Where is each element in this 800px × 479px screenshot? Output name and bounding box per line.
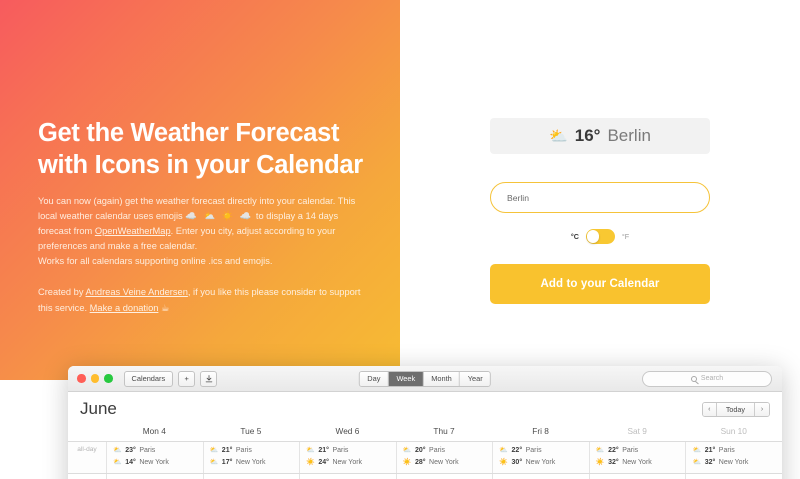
event-temperature: 24°: [318, 457, 329, 469]
calendar-titlebar: Calendars + Day Week Month Year Search: [68, 366, 782, 392]
previous-week-button[interactable]: ‹: [703, 403, 717, 416]
unit-toggle-row: °C °F: [490, 229, 710, 244]
window-controls: [77, 374, 113, 383]
weather-emoji-run: ☁️ ⛅ ☀️ ☁️: [185, 211, 253, 221]
calendar-event[interactable]: ⛅22°Paris: [596, 445, 686, 457]
calendar-event[interactable]: ⛅21°Paris: [210, 445, 300, 457]
weather-icon: ☀️: [306, 457, 315, 469]
event-temperature: 32°: [608, 457, 619, 469]
all-day-events-row: all-day ⛅23°Paris⛅14°New York⛅21°Paris⛅1…: [68, 441, 782, 474]
celsius-label[interactable]: °C: [571, 232, 579, 241]
view-tab-month[interactable]: Month: [424, 372, 461, 386]
search-input[interactable]: Search: [642, 371, 772, 387]
day-header-1[interactable]: Tue 5: [203, 426, 300, 441]
day-events-column-2: ⛅21°Paris☀️24°New York: [299, 442, 396, 473]
calendar-window: Calendars + Day Week Month Year Search J…: [68, 366, 782, 479]
event-location: Paris: [139, 445, 155, 457]
weather-icon: ⛅: [113, 445, 122, 457]
day-header-5[interactable]: Sat 9: [589, 426, 686, 441]
page-root: Get the Weather Forecast with Icons in y…: [0, 0, 800, 479]
timed-slot-column-2[interactable]: [299, 474, 396, 479]
preview-temperature: 16°: [575, 126, 601, 146]
timed-slot-column-3[interactable]: [396, 474, 493, 479]
maximize-window-button[interactable]: [104, 374, 113, 383]
event-temperature: 32°: [705, 457, 716, 469]
weather-icon: ☀️: [596, 457, 605, 469]
month-header-bar: June ‹ Today ›: [68, 392, 782, 426]
weather-icon: ⛅: [403, 445, 412, 457]
day-header-3[interactable]: Thu 7: [396, 426, 493, 441]
view-tab-year[interactable]: Year: [460, 372, 490, 386]
coffee-icon: ☕: [161, 303, 169, 313]
event-temperature: 21°: [318, 445, 329, 457]
event-location: Paris: [526, 445, 542, 457]
current-month-label: June: [80, 399, 117, 419]
signup-column: ⛅ 16° Berlin °C °F Add to your Calendar: [490, 118, 710, 304]
timed-slot-column-4[interactable]: [492, 474, 589, 479]
hero-description: You can now (again) get the weather fore…: [38, 194, 368, 269]
unit-toggle-switch[interactable]: [586, 229, 615, 244]
event-temperature: 22°: [608, 445, 619, 457]
calendar-event[interactable]: ☀️28°New York: [403, 457, 493, 469]
event-location: Paris: [236, 445, 252, 457]
event-temperature: 22°: [512, 445, 523, 457]
calendars-button[interactable]: Calendars: [124, 371, 174, 387]
calendar-event[interactable]: ⛅20°Paris: [403, 445, 493, 457]
event-location: New York: [526, 457, 556, 469]
weather-icon: ⛅: [210, 457, 219, 469]
event-columns: ⛅23°Paris⛅14°New York⛅21°Paris⛅17°New Yo…: [106, 442, 782, 473]
weather-icon: ⛅: [499, 445, 508, 457]
close-window-button[interactable]: [77, 374, 86, 383]
weather-icon: ⛅: [113, 457, 122, 469]
toggle-knob: [587, 230, 599, 242]
day-events-column-3: ⛅20°Paris☀️28°New York: [396, 442, 493, 473]
timed-slot-column-1[interactable]: [203, 474, 300, 479]
calendar-event[interactable]: ⛅14°New York: [113, 457, 203, 469]
today-button[interactable]: Today: [717, 403, 755, 416]
weather-icon: ☀️: [499, 457, 508, 469]
sun-behind-cloud-icon: ⛅: [549, 129, 568, 144]
add-event-button[interactable]: +: [178, 371, 195, 387]
event-location: New York: [429, 457, 459, 469]
event-temperature: 30°: [512, 457, 523, 469]
event-location: Paris: [332, 445, 348, 457]
timed-slot-column-0[interactable]: [106, 474, 203, 479]
calendar-event[interactable]: ⛅21°Paris: [692, 445, 782, 457]
calendar-event[interactable]: ⛅32°New York: [692, 457, 782, 469]
weather-icon: ☀️: [403, 457, 412, 469]
import-icon[interactable]: [200, 371, 217, 387]
author-link[interactable]: Andreas Veine Andersen: [86, 287, 188, 297]
day-header-4[interactable]: Fri 8: [492, 426, 589, 441]
timed-events-grid: [68, 474, 782, 479]
next-week-button[interactable]: ›: [755, 403, 769, 416]
event-temperature: 20°: [415, 445, 426, 457]
event-location: Paris: [719, 445, 735, 457]
weather-icon: ⛅: [692, 457, 701, 469]
day-header-0[interactable]: Mon 4: [106, 426, 203, 441]
date-navigation-group: ‹ Today ›: [702, 402, 770, 417]
page-title-line1: Get the Weather Forecast: [38, 119, 339, 147]
search-placeholder: Search: [701, 375, 723, 382]
hero-panel: Get the Weather Forecast with Icons in y…: [0, 0, 400, 380]
day-headers-row: Mon 4Tue 5Wed 6Thu 7Fri 8Sat 9Sun 10: [68, 426, 782, 441]
hero-content: Get the Weather Forecast with Icons in y…: [38, 118, 368, 316]
day-events-column-5: ⛅22°Paris☀️32°New York: [589, 442, 686, 473]
day-events-column-1: ⛅21°Paris⛅17°New York: [203, 442, 300, 473]
event-temperature: 21°: [222, 445, 233, 457]
event-location: New York: [236, 457, 266, 469]
day-header-2[interactable]: Wed 6: [299, 426, 396, 441]
event-location: New York: [332, 457, 362, 469]
event-location: New York: [719, 457, 749, 469]
event-location: New York: [139, 457, 169, 469]
view-tab-week[interactable]: Week: [389, 372, 424, 386]
event-temperature: 14°: [125, 457, 136, 469]
view-segmented-control[interactable]: Day Week Month Year: [359, 371, 491, 387]
day-events-column-0: ⛅23°Paris⛅14°New York: [106, 442, 203, 473]
view-tab-day[interactable]: Day: [360, 372, 389, 386]
hero-credit: Created by Andreas Veine Andersen, if yo…: [38, 285, 368, 315]
event-temperature: 17°: [222, 457, 233, 469]
calendar-event[interactable]: ⛅21°Paris: [306, 445, 396, 457]
hero-description-part4: Works for all calendars supporting onlin…: [38, 256, 272, 266]
minimize-window-button[interactable]: [91, 374, 100, 383]
preview-city: Berlin: [607, 126, 650, 146]
day-header-6[interactable]: Sun 10: [685, 426, 782, 441]
all-day-label: all-day: [68, 442, 106, 473]
page-title: Get the Weather Forecast with Icons in y…: [38, 118, 368, 181]
timed-slot-column-6[interactable]: [685, 474, 782, 479]
calendar-event[interactable]: ☀️32°New York: [596, 457, 686, 469]
search-icon: [691, 376, 697, 382]
event-temperature: 28°: [415, 457, 426, 469]
event-location: Paris: [622, 445, 638, 457]
calendar-event[interactable]: ☀️24°New York: [306, 457, 396, 469]
day-events-column-4: ⛅22°Paris☀️30°New York: [492, 442, 589, 473]
fahrenheit-label[interactable]: °F: [622, 232, 629, 241]
event-location: Paris: [429, 445, 445, 457]
weather-preview-card: ⛅ 16° Berlin: [490, 118, 710, 154]
weather-icon: ⛅: [210, 445, 219, 457]
openweathermap-link[interactable]: OpenWeatherMap: [95, 226, 171, 236]
timed-slot-column-5[interactable]: [589, 474, 686, 479]
weather-icon: ⛅: [692, 445, 701, 457]
calendar-event[interactable]: ⛅17°New York: [210, 457, 300, 469]
credit-prefix: Created by: [38, 287, 86, 297]
day-events-column-6: ⛅21°Paris⛅32°New York: [685, 442, 782, 473]
calendar-event[interactable]: ☀️30°New York: [499, 457, 589, 469]
event-temperature: 21°: [705, 445, 716, 457]
download-arrow-icon: [205, 375, 213, 383]
donation-link[interactable]: Make a donation: [90, 303, 159, 313]
page-title-line2: with Icons in your Calendar: [38, 151, 363, 179]
calendar-event[interactable]: ⛅23°Paris: [113, 445, 203, 457]
weather-icon: ⛅: [306, 445, 315, 457]
weather-icon: ⛅: [596, 445, 605, 457]
add-to-calendar-button[interactable]: Add to your Calendar: [490, 264, 710, 304]
calendar-event[interactable]: ⛅22°Paris: [499, 445, 589, 457]
event-temperature: 23°: [125, 445, 136, 457]
city-input[interactable]: [490, 182, 710, 213]
event-location: New York: [622, 457, 652, 469]
